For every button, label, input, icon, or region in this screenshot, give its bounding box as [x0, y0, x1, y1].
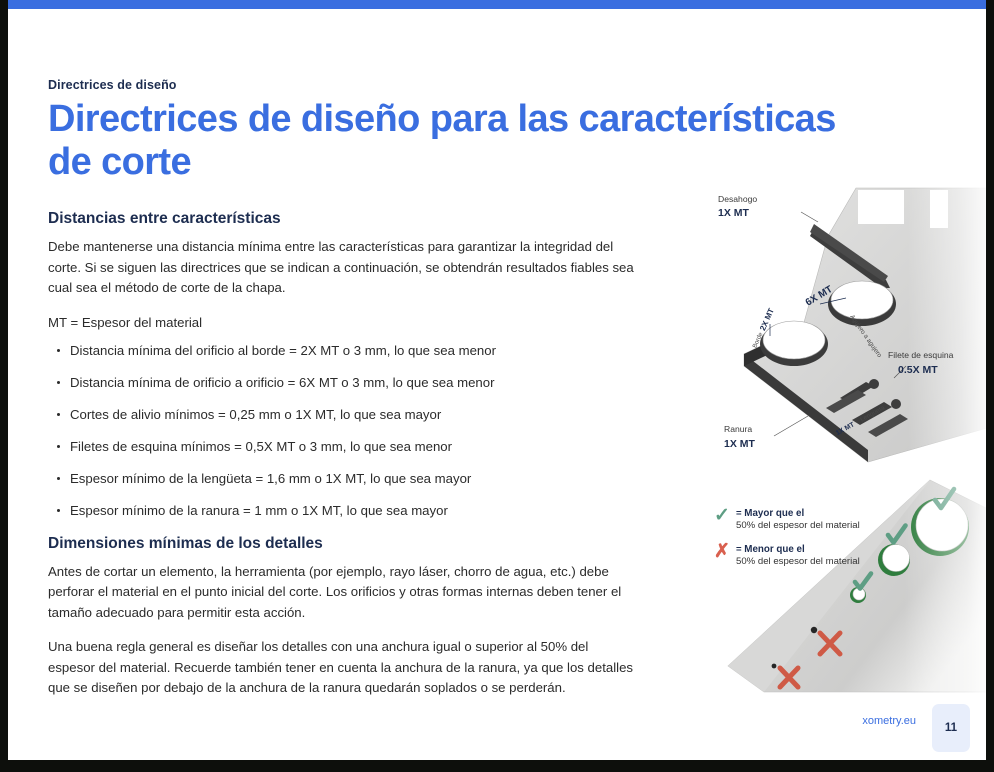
hole-large [828, 281, 896, 326]
legend-equals: = [736, 508, 742, 519]
minimum-feature-size-illustration [708, 470, 986, 715]
section-heading-min-dimensions: Dimensiones mínimas de los detalles [48, 535, 648, 553]
callout-value: 0.5X MT [898, 364, 938, 376]
document-page: Directrices de diseño Directrices de dis… [8, 0, 986, 760]
page-title: Directrices de diseño para las caracterí… [48, 98, 863, 184]
hole-bad-2 [772, 664, 777, 669]
check-icon: ✓ [714, 508, 736, 524]
legend-title: Menor que el [744, 544, 804, 555]
text-column: Directrices de diseño Directrices de dis… [48, 78, 648, 713]
list-item: Distancia mínima de orificio a orificio … [48, 373, 648, 393]
legend-title: Mayor que el [744, 508, 804, 519]
legend-subtitle: 50% del espesor del material [736, 520, 860, 531]
sheet-metal-features-illustration: Desahogo 1X MT Filete de esquina 0.5X MT… [708, 176, 986, 472]
callout-label: Ranura [724, 424, 752, 434]
callout-desahogo: Desahogo 1X MT [718, 194, 757, 219]
x-icon: ✗ [714, 544, 736, 560]
mt-definition: MT = Espesor del material [48, 313, 648, 333]
callout-label: Filete de esquina [888, 350, 954, 360]
list-item: Espesor mínimo de la ranura = 1 mm o 1X … [48, 501, 648, 521]
section1-paragraph: Debe mantenerse una distancia mínima ent… [48, 237, 636, 299]
legend-row-good: ✓ = Mayor que el 50% del espesor del mat… [714, 508, 874, 533]
brand-link[interactable]: xometry.eu [862, 715, 916, 727]
legend-subtitle: 50% del espesor del material [736, 556, 860, 567]
section2-paragraph-2: Una buena regla general es diseñar los d… [48, 637, 636, 699]
hole-bad-1 [811, 627, 817, 633]
list-item: Distancia mínima del orificio al borde =… [48, 341, 648, 361]
legend: ✓ = Mayor que el 50% del espesor del mat… [714, 508, 874, 580]
section2-paragraph-1: Antes de cortar un elemento, la herramie… [48, 562, 636, 624]
callout-ranura: Ranura 1X MT [724, 424, 756, 450]
callout-label: Desahogo [718, 194, 757, 204]
list-item: Filetes de esquina mínimos = 0,5X MT o 3… [48, 437, 648, 457]
callout-value: 1X MT [718, 207, 750, 219]
section-heading-distances: Distancias entre características [48, 210, 648, 228]
eyebrow-label: Directrices de diseño [48, 78, 648, 92]
guideline-list: Distancia mínima del orificio al borde =… [48, 341, 648, 521]
bottom-edge-bar [0, 760, 994, 772]
screenshot-viewport: Directrices de diseño Directrices de dis… [0, 0, 994, 772]
top-accent-bar [8, 0, 986, 9]
list-item: Espesor mínimo de la lengüeta = 1,6 mm o… [48, 469, 648, 489]
legend-equals: = [736, 544, 742, 555]
callout-value: 1X MT [724, 438, 756, 450]
page-number-badge: 11 [932, 704, 970, 752]
page-footer: xometry.eu 11 [862, 704, 970, 738]
list-item: Cortes de alivio mínimos = 0,25 mm o 1X … [48, 405, 648, 425]
legend-row-bad: ✗ = Menor que el 50% del espesor del mat… [714, 544, 874, 569]
